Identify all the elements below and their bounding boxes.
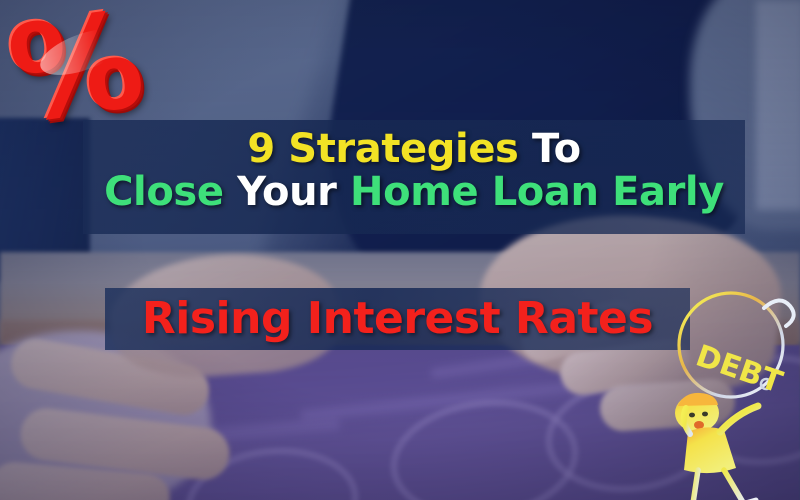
subtitle-banner: Rising Interest Rates [105, 288, 690, 350]
title-line-1: 9 Strategies To [83, 126, 745, 172]
promo-banner-image: % 9 Strategies To Close Your Home Loan E… [0, 0, 800, 500]
figure-arm-right [720, 406, 758, 432]
title-banner: 9 Strategies To Close Your Home Loan Ear… [83, 120, 745, 234]
title-line-1-plain: To [532, 126, 581, 172]
figure-eye-right [702, 412, 708, 417]
figure-leg-left [692, 470, 698, 500]
subtitle-text: Rising Interest Rates [105, 292, 690, 346]
figure-eye-left [689, 413, 695, 418]
debt-burden-icon: DEBT [668, 282, 800, 500]
title-line-2: Close Your Home Loan Early [83, 169, 745, 215]
title-line-2-part-your: Your [237, 169, 336, 215]
title-line-2-part-close: Close [104, 169, 224, 215]
figure-leg-right [724, 470, 744, 500]
title-line-1-highlight: 9 Strategies [247, 126, 518, 172]
title-line-2-part-home-loan-early: Home Loan Early [350, 169, 724, 215]
figure-mouth [694, 421, 704, 429]
percent-symbol-badge: % [10, 8, 160, 138]
percent-symbol: % [3, 0, 168, 136]
debt-burden-illustration: DEBT [668, 282, 800, 500]
